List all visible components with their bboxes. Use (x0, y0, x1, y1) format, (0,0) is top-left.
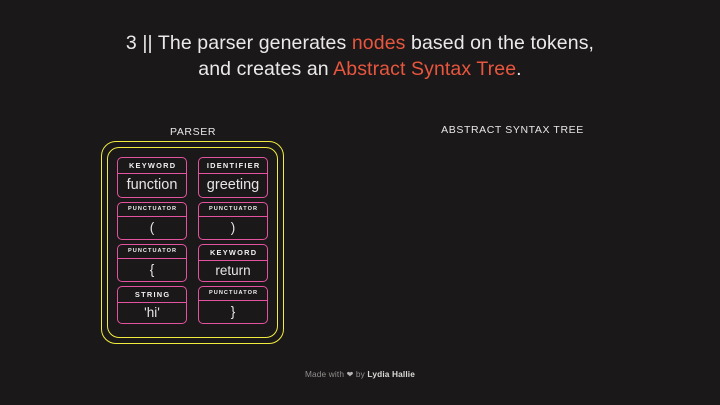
token-value: ( (118, 217, 186, 239)
title-line2-after: . (516, 58, 522, 80)
parser-section-label: PARSER (100, 126, 286, 138)
ast-node-area (360, 145, 665, 340)
token-cell[interactable]: PUNCTUATOR) (198, 202, 268, 240)
footer-middle: by (353, 369, 367, 379)
token-type-label: PUNCTUATOR (118, 245, 186, 259)
title-line1-before: The parser generates (158, 32, 352, 54)
title-line-1: 3 || The parser generates nodes based on… (0, 30, 720, 56)
token-cell[interactable]: PUNCTUATOR} (198, 286, 268, 324)
footer-author: Lydia Hallie (367, 369, 415, 379)
token-cell[interactable]: STRING'hi' (117, 286, 187, 324)
title-line-2: and creates an Abstract Syntax Tree. (0, 56, 720, 82)
token-cell[interactable]: PUNCTUATOR{ (117, 244, 187, 282)
token-type-label: PUNCTUATOR (199, 287, 267, 301)
token-type-label: PUNCTUATOR (118, 203, 186, 217)
token-cell[interactable]: KEYWORDreturn (198, 244, 268, 282)
token-type-label: STRING (118, 287, 186, 303)
title-line1-after: based on the tokens, (406, 32, 595, 54)
token-value: greeting (199, 174, 267, 197)
token-value: return (199, 261, 267, 281)
token-value: } (199, 301, 267, 323)
title-accent-ast: Abstract Syntax Tree (333, 58, 516, 80)
token-type-label: KEYWORD (118, 158, 186, 174)
footer-prefix: Made with (305, 369, 347, 379)
token-cell[interactable]: IDENTIFIERgreeting (198, 157, 268, 198)
token-value: ) (199, 217, 267, 239)
title-step-number: 3 || (126, 32, 158, 54)
token-value: function (118, 174, 186, 197)
ast-section-label: ABSTRACT SYNTAX TREE (360, 124, 665, 136)
token-cell[interactable]: PUNCTUATOR( (117, 202, 187, 240)
token-type-label: IDENTIFIER (199, 158, 267, 174)
title-accent-nodes: nodes (352, 32, 406, 54)
slide-title: 3 || The parser generates nodes based on… (0, 30, 720, 82)
token-list: KEYWORDfunctionIDENTIFIERgreetingPUNCTUA… (117, 157, 268, 328)
token-value: 'hi' (118, 303, 186, 323)
token-type-label: PUNCTUATOR (199, 203, 267, 217)
title-line2-before: and creates an (198, 58, 333, 80)
footer-credit: Made with ❤ by Lydia Hallie (0, 369, 720, 379)
token-value: { (118, 259, 186, 281)
token-type-label: KEYWORD (199, 245, 267, 261)
token-cell[interactable]: KEYWORDfunction (117, 157, 187, 198)
